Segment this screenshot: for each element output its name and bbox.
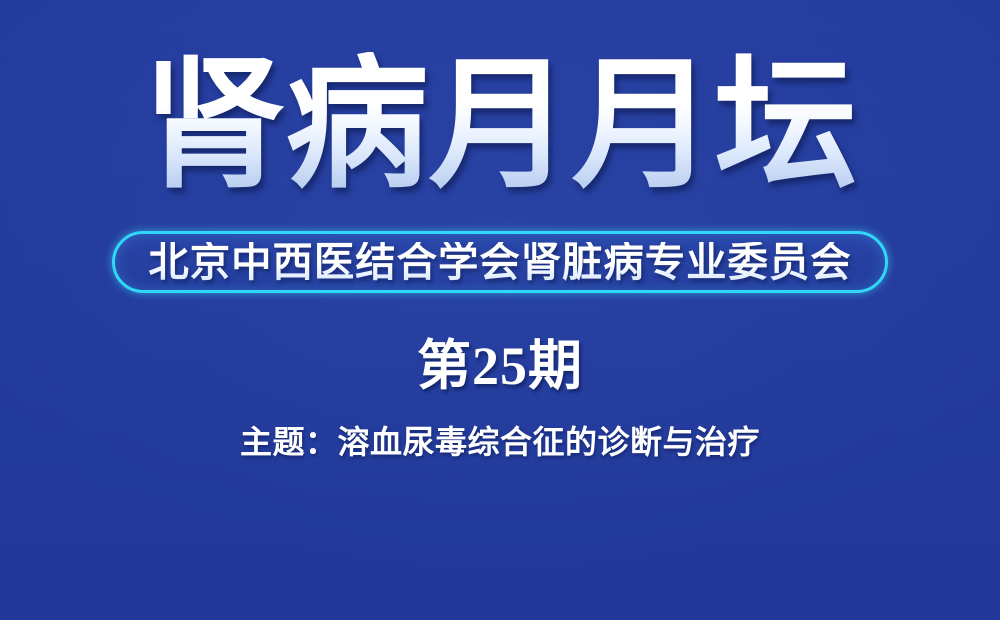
theme-block: 主题：溶血尿毒综合征的诊断与治疗 bbox=[0, 424, 1000, 461]
issue-number-block: 第25期 bbox=[0, 339, 1000, 393]
society-banner-label: 北京中西医结合学会肾脏病专业委员会 bbox=[148, 242, 851, 283]
poster-canvas: 肾病月月坛 北京中西医结合学会肾脏病专业委员会 第25期 主题：溶血尿毒综合征的… bbox=[0, 0, 1000, 620]
issue-number-label: 第25期 bbox=[417, 339, 583, 393]
page-title: 肾病月月坛 bbox=[143, 52, 858, 201]
main-title-block: 肾病月月坛 bbox=[0, 52, 1000, 201]
society-banner-pill: 北京中西医结合学会肾脏病专业委员会 bbox=[112, 231, 888, 293]
theme-label: 主题：溶血尿毒综合征的诊断与治疗 bbox=[240, 424, 760, 461]
